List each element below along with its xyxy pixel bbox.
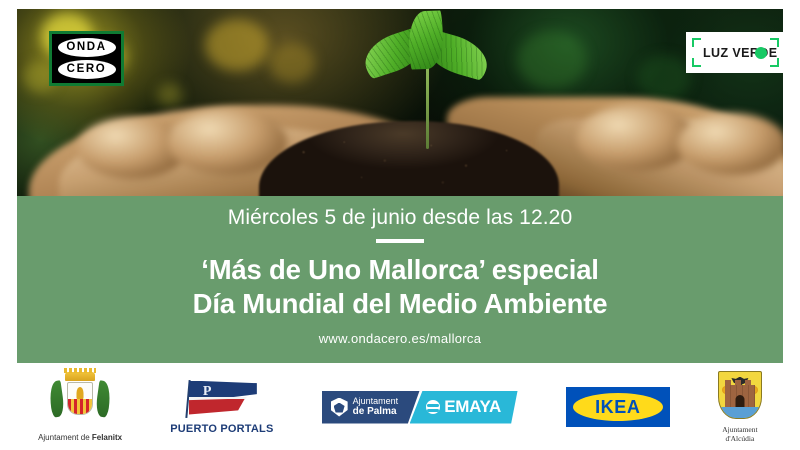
- alcudia-crest-icon: [718, 371, 762, 423]
- flag-red-field: [189, 399, 245, 415]
- felanitx-caption: Ajuntament de Felanitx: [38, 433, 122, 442]
- sponsor-palma-emaya[interactable]: Ajuntament de Palma EMAYA: [322, 391, 518, 424]
- emaya-block: EMAYA: [410, 391, 518, 424]
- laurel-left-icon: [48, 380, 66, 417]
- bokeh-light: [517, 31, 587, 89]
- palma-label-line2: de Palma: [353, 406, 399, 417]
- page-title: ‘Más de Uno Mallorca’ especial Día Mundi…: [17, 253, 783, 320]
- ajuntament-de-palma-block: Ajuntament de Palma: [322, 391, 420, 424]
- bokeh-light: [269, 43, 315, 83]
- laurel-right-icon: [95, 380, 113, 417]
- crown-icon: [65, 372, 95, 381]
- puerto-portals-flag-icon: P: [183, 380, 261, 420]
- felanitx-caption-light: Ajuntament de: [38, 433, 92, 442]
- broadcast-date: Miércoles 5 de junio desde las 12.20: [17, 196, 783, 230]
- emaya-label: EMAYA: [444, 397, 501, 417]
- shield-icon: [718, 371, 762, 419]
- luz-verde-frame: LUZ VERDE: [692, 38, 779, 67]
- alcudia-caption-line1: Ajuntament: [722, 425, 757, 434]
- puerto-portals-label: PUERTO PORTALS: [170, 423, 273, 435]
- sponsor-ajuntament-dalcudia[interactable]: Ajuntament d'Alcúdia: [718, 371, 762, 444]
- puerto-portals-monogram: P: [203, 384, 212, 400]
- palma-emaya-logo: Ajuntament de Palma EMAYA: [322, 391, 518, 424]
- onda-cero-logo[interactable]: ONDA CERO: [49, 31, 124, 86]
- chalice-icon: [77, 387, 84, 399]
- shield-icon: [67, 382, 93, 415]
- ikea-label: IKEA: [595, 397, 640, 418]
- seedling-icon: [347, 11, 507, 151]
- ikea-logo: IKEA: [566, 387, 670, 427]
- sponsor-ikea[interactable]: IKEA: [566, 387, 670, 427]
- sponsor-ajuntament-de-felanitx[interactable]: Ajuntament de Felanitx: [38, 372, 122, 442]
- onda-cero-logo-line2: CERO: [58, 60, 116, 79]
- sponsor-puerto-portals[interactable]: P PUERTO PORTALS: [170, 380, 273, 435]
- water-wave-icon: [426, 400, 440, 414]
- senyera-bars: [68, 399, 92, 414]
- palma-label: Ajuntament de Palma: [353, 396, 399, 417]
- palma-label-line1: Ajuntament: [353, 396, 399, 406]
- onda-cero-logo-line1: ONDA: [58, 38, 116, 57]
- alcudia-caption: Ajuntament d'Alcúdia: [722, 425, 757, 444]
- headline-line-2: Día Mundial del Medio Ambiente: [17, 287, 783, 321]
- castle-gate-icon: [735, 395, 744, 407]
- hero-photo: ONDA CERO LUZ VERDE: [17, 9, 783, 196]
- bokeh-light: [205, 19, 269, 71]
- onda-cero-logo-inner: ONDA CERO: [52, 34, 121, 83]
- water-base-icon: [719, 407, 762, 418]
- promo-poster: ONDA CERO LUZ VERDE Miércoles 5 de junio…: [0, 0, 800, 450]
- knuckle-highlight: [677, 113, 783, 175]
- felanitx-crest-icon: [49, 372, 111, 430]
- website-url[interactable]: www.ondacero.es/mallorca: [17, 331, 783, 346]
- sponsor-bar: Ajuntament de Felanitx P PUERTO PORTALS …: [0, 364, 800, 450]
- bokeh-light: [157, 83, 183, 107]
- felanitx-caption-bold: Felanitx: [92, 433, 122, 442]
- bracket-corner-icon: [692, 38, 701, 47]
- luz-verde-logo[interactable]: LUZ VERDE: [686, 32, 783, 73]
- divider-rule: [376, 239, 424, 243]
- headline-line-1: ‘Más de Uno Mallorca’ especial: [17, 253, 783, 287]
- alcudia-caption-line2: d'Alcúdia: [722, 434, 757, 443]
- ikea-oval: IKEA: [573, 393, 663, 421]
- green-dot-icon: [755, 47, 767, 59]
- info-band: Miércoles 5 de junio desde las 12.20 ‘Má…: [17, 196, 783, 363]
- bokeh-light: [637, 55, 691, 101]
- bracket-corner-icon: [692, 58, 701, 67]
- palma-crest-icon: [331, 398, 348, 417]
